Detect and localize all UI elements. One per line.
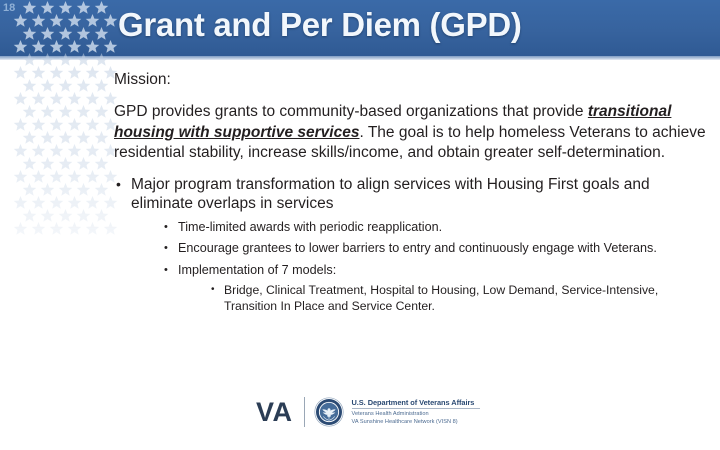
va-logo-text: U.S. Department of Veterans Affairs Vete… <box>352 398 480 427</box>
bullet-glyph-icon: • <box>164 219 168 236</box>
va-administration-name: Veterans Health Administration <box>352 411 480 419</box>
bullet-glyph-icon: • <box>164 262 168 279</box>
bullet-list-level-2: • Time-limited awards with periodic reap… <box>163 219 710 315</box>
slide-number: 18 <box>3 2 15 14</box>
bullet-glyph-icon: • <box>211 282 215 298</box>
mission-paragraph: GPD provides grants to community-based o… <box>114 102 710 164</box>
va-department-name: U.S. Department of Veterans Affairs <box>352 399 480 406</box>
bullet-glyph-icon: • <box>164 240 168 257</box>
page-title: Grant and Per Diem (GPD) <box>118 6 708 44</box>
logo-divider <box>304 397 305 427</box>
list-item-label: Major program transformation to align se… <box>131 176 650 213</box>
list-item: • Time-limited awards with periodic reap… <box>163 219 710 236</box>
bullet-list-level-1: • Major program transformation to align … <box>114 175 710 315</box>
list-item: • Major program transformation to align … <box>114 175 710 315</box>
mission-text-before: GPD provides grants to community-based o… <box>114 103 588 120</box>
list-item-label: Time-limited awards with periodic reappl… <box>178 220 442 234</box>
va-network-name: VA Sunshine Healthcare Network (VISN 8) <box>352 419 480 427</box>
bullet-list-level-3: • Bridge, Clinical Treatment, Hospital t… <box>210 282 710 314</box>
list-item: • Bridge, Clinical Treatment, Hospital t… <box>210 282 710 314</box>
list-item: • Implementation of 7 models: • Bridge, … <box>163 262 710 315</box>
logo-rule <box>352 408 480 409</box>
va-wordmark: VA <box>256 397 293 427</box>
list-item: • Encourage grantees to lower barriers t… <box>163 240 710 257</box>
bullet-glyph-icon: • <box>116 175 121 195</box>
list-item-label: Encourage grantees to lower barriers to … <box>178 241 657 255</box>
slide-body: Mission: GPD provides grants to communit… <box>114 70 710 319</box>
header-underline <box>0 56 720 60</box>
list-item-label: Bridge, Clinical Treatment, Hospital to … <box>224 283 658 313</box>
slide: 18 Grant and Per Diem (GPD) Mission: GPD… <box>0 0 720 450</box>
va-seal-icon <box>314 397 344 427</box>
mission-label: Mission: <box>114 70 710 90</box>
list-item-label: Implementation of 7 models: <box>178 263 336 277</box>
va-logo-lockup: VA U.S. Department of Veterans Affairs <box>256 394 480 430</box>
